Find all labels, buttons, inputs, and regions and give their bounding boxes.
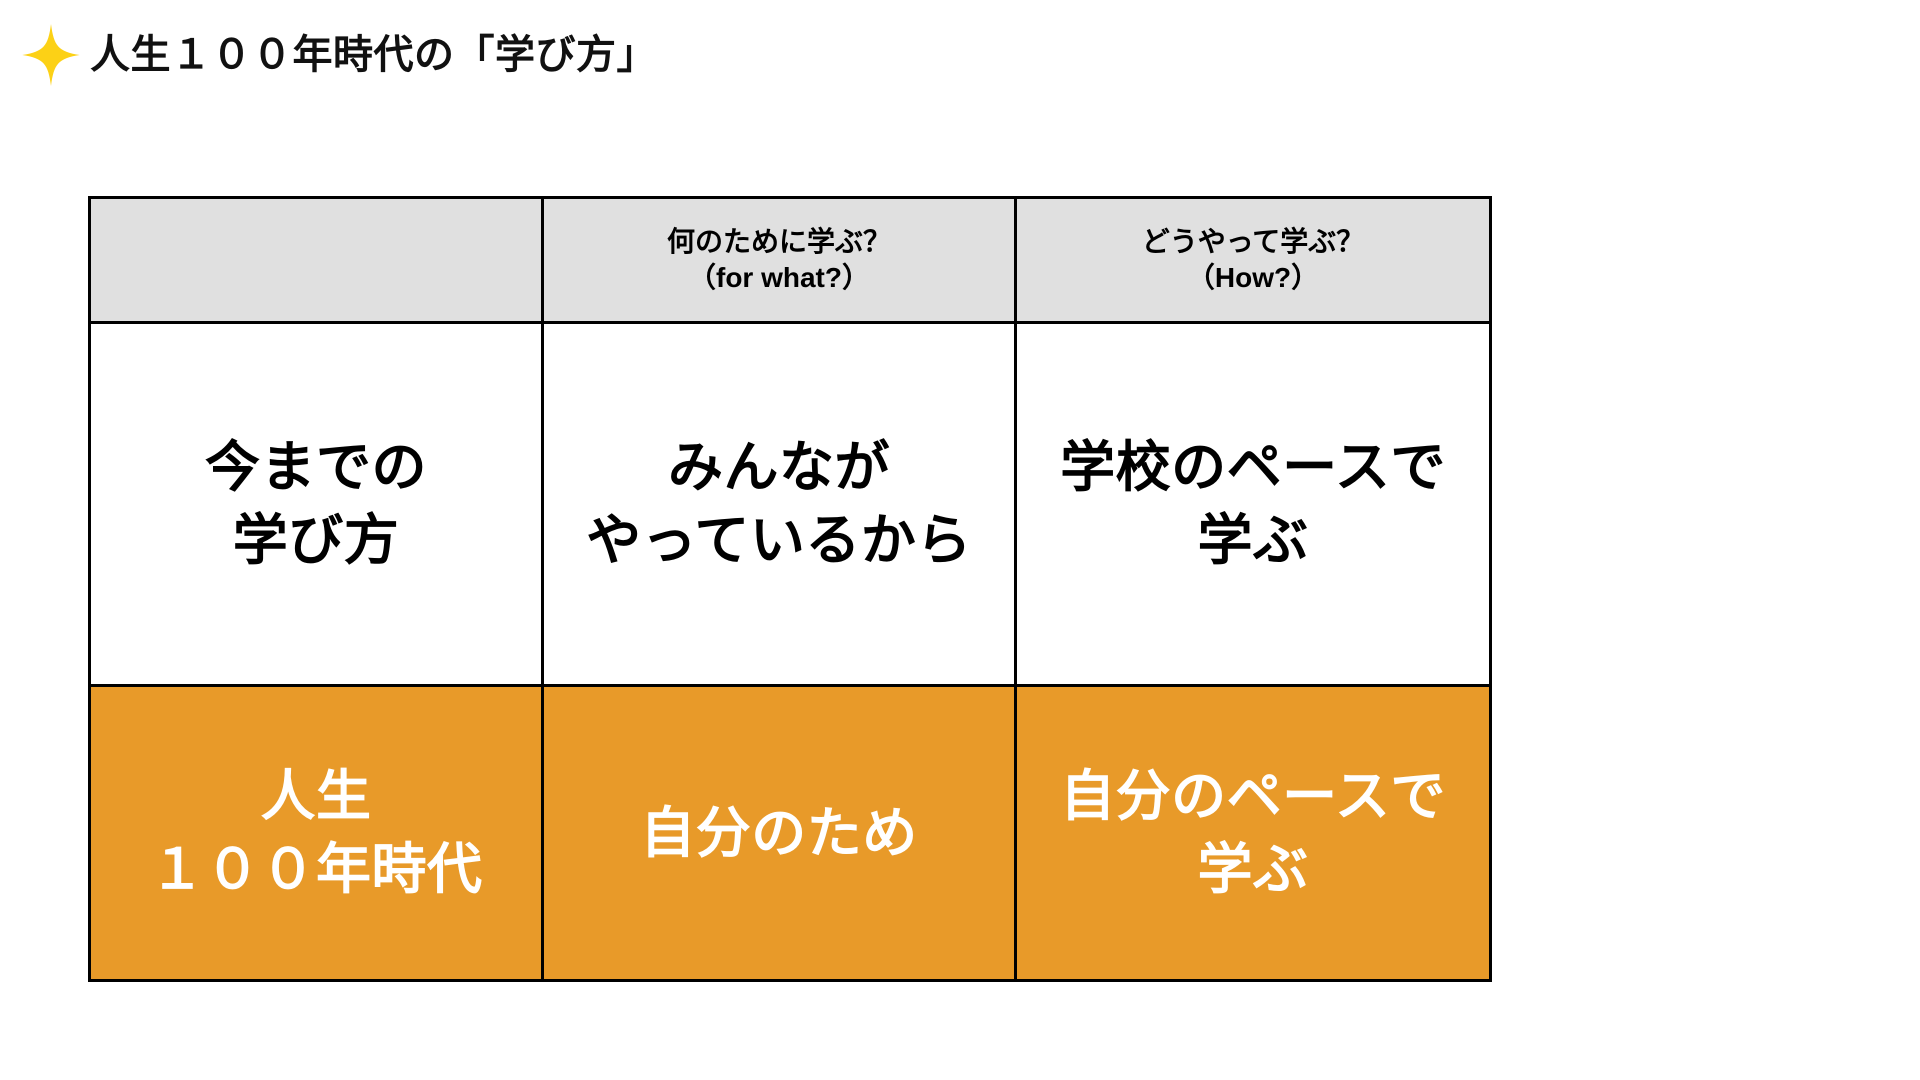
cell-new-era-for-what: 自分のため xyxy=(543,686,1016,981)
slide-title: 人生１００年時代の「学び方」 xyxy=(22,22,657,88)
table-row-old-way: 今までの 学び方 みんなが やっているから 学校のペースで 学ぶ xyxy=(90,323,1491,686)
old-way-label-line2: 学び方 xyxy=(91,504,541,577)
table-row-new-era: 人生 １００年時代 自分のため 自分のペースで 学ぶ xyxy=(90,686,1491,981)
cell-old-way-how: 学校のペースで 学ぶ xyxy=(1016,323,1491,686)
header-for-what-en: （for what?） xyxy=(544,260,1014,296)
header-cell-corner xyxy=(90,198,543,323)
old-way-how-line2: 学ぶ xyxy=(1017,504,1489,577)
header-how-en: （How?） xyxy=(1017,260,1489,296)
learning-comparison-table: 何のために学ぶ？ （for what?） どうやって学ぶ？ （How?） 今まで… xyxy=(88,196,1492,982)
cell-new-era-how: 自分のペースで 学ぶ xyxy=(1016,686,1491,981)
sparkle-star-icon xyxy=(22,24,80,86)
header-cell-for-what: 何のために学ぶ？ （for what?） xyxy=(543,198,1016,323)
new-era-label-line1: 人生 xyxy=(91,760,541,833)
new-era-how-line1: 自分のペースで xyxy=(1017,760,1489,833)
old-way-how-line1: 学校のペースで xyxy=(1017,431,1489,504)
slide-title-text: 人生１００年時代の「学び方」 xyxy=(90,35,657,75)
header-cell-how: どうやって学ぶ？ （How?） xyxy=(1016,198,1491,323)
row-label-old-way: 今までの 学び方 xyxy=(90,323,543,686)
new-era-label-line2: １００年時代 xyxy=(91,833,541,906)
cell-old-way-for-what: みんなが やっているから xyxy=(543,323,1016,686)
new-era-what-line1: 自分のため xyxy=(544,797,1014,870)
row-label-new-era: 人生 １００年時代 xyxy=(90,686,543,981)
table-header-row: 何のために学ぶ？ （for what?） どうやって学ぶ？ （How?） xyxy=(90,198,1491,323)
header-how-jp: どうやって学ぶ？ xyxy=(1017,224,1489,260)
new-era-how-line2: 学ぶ xyxy=(1017,833,1489,906)
header-for-what-jp: 何のために学ぶ？ xyxy=(544,224,1014,260)
old-way-what-line2: やっているから xyxy=(544,504,1014,577)
old-way-label-line1: 今までの xyxy=(91,431,541,504)
old-way-what-line1: みんなが xyxy=(544,431,1014,504)
